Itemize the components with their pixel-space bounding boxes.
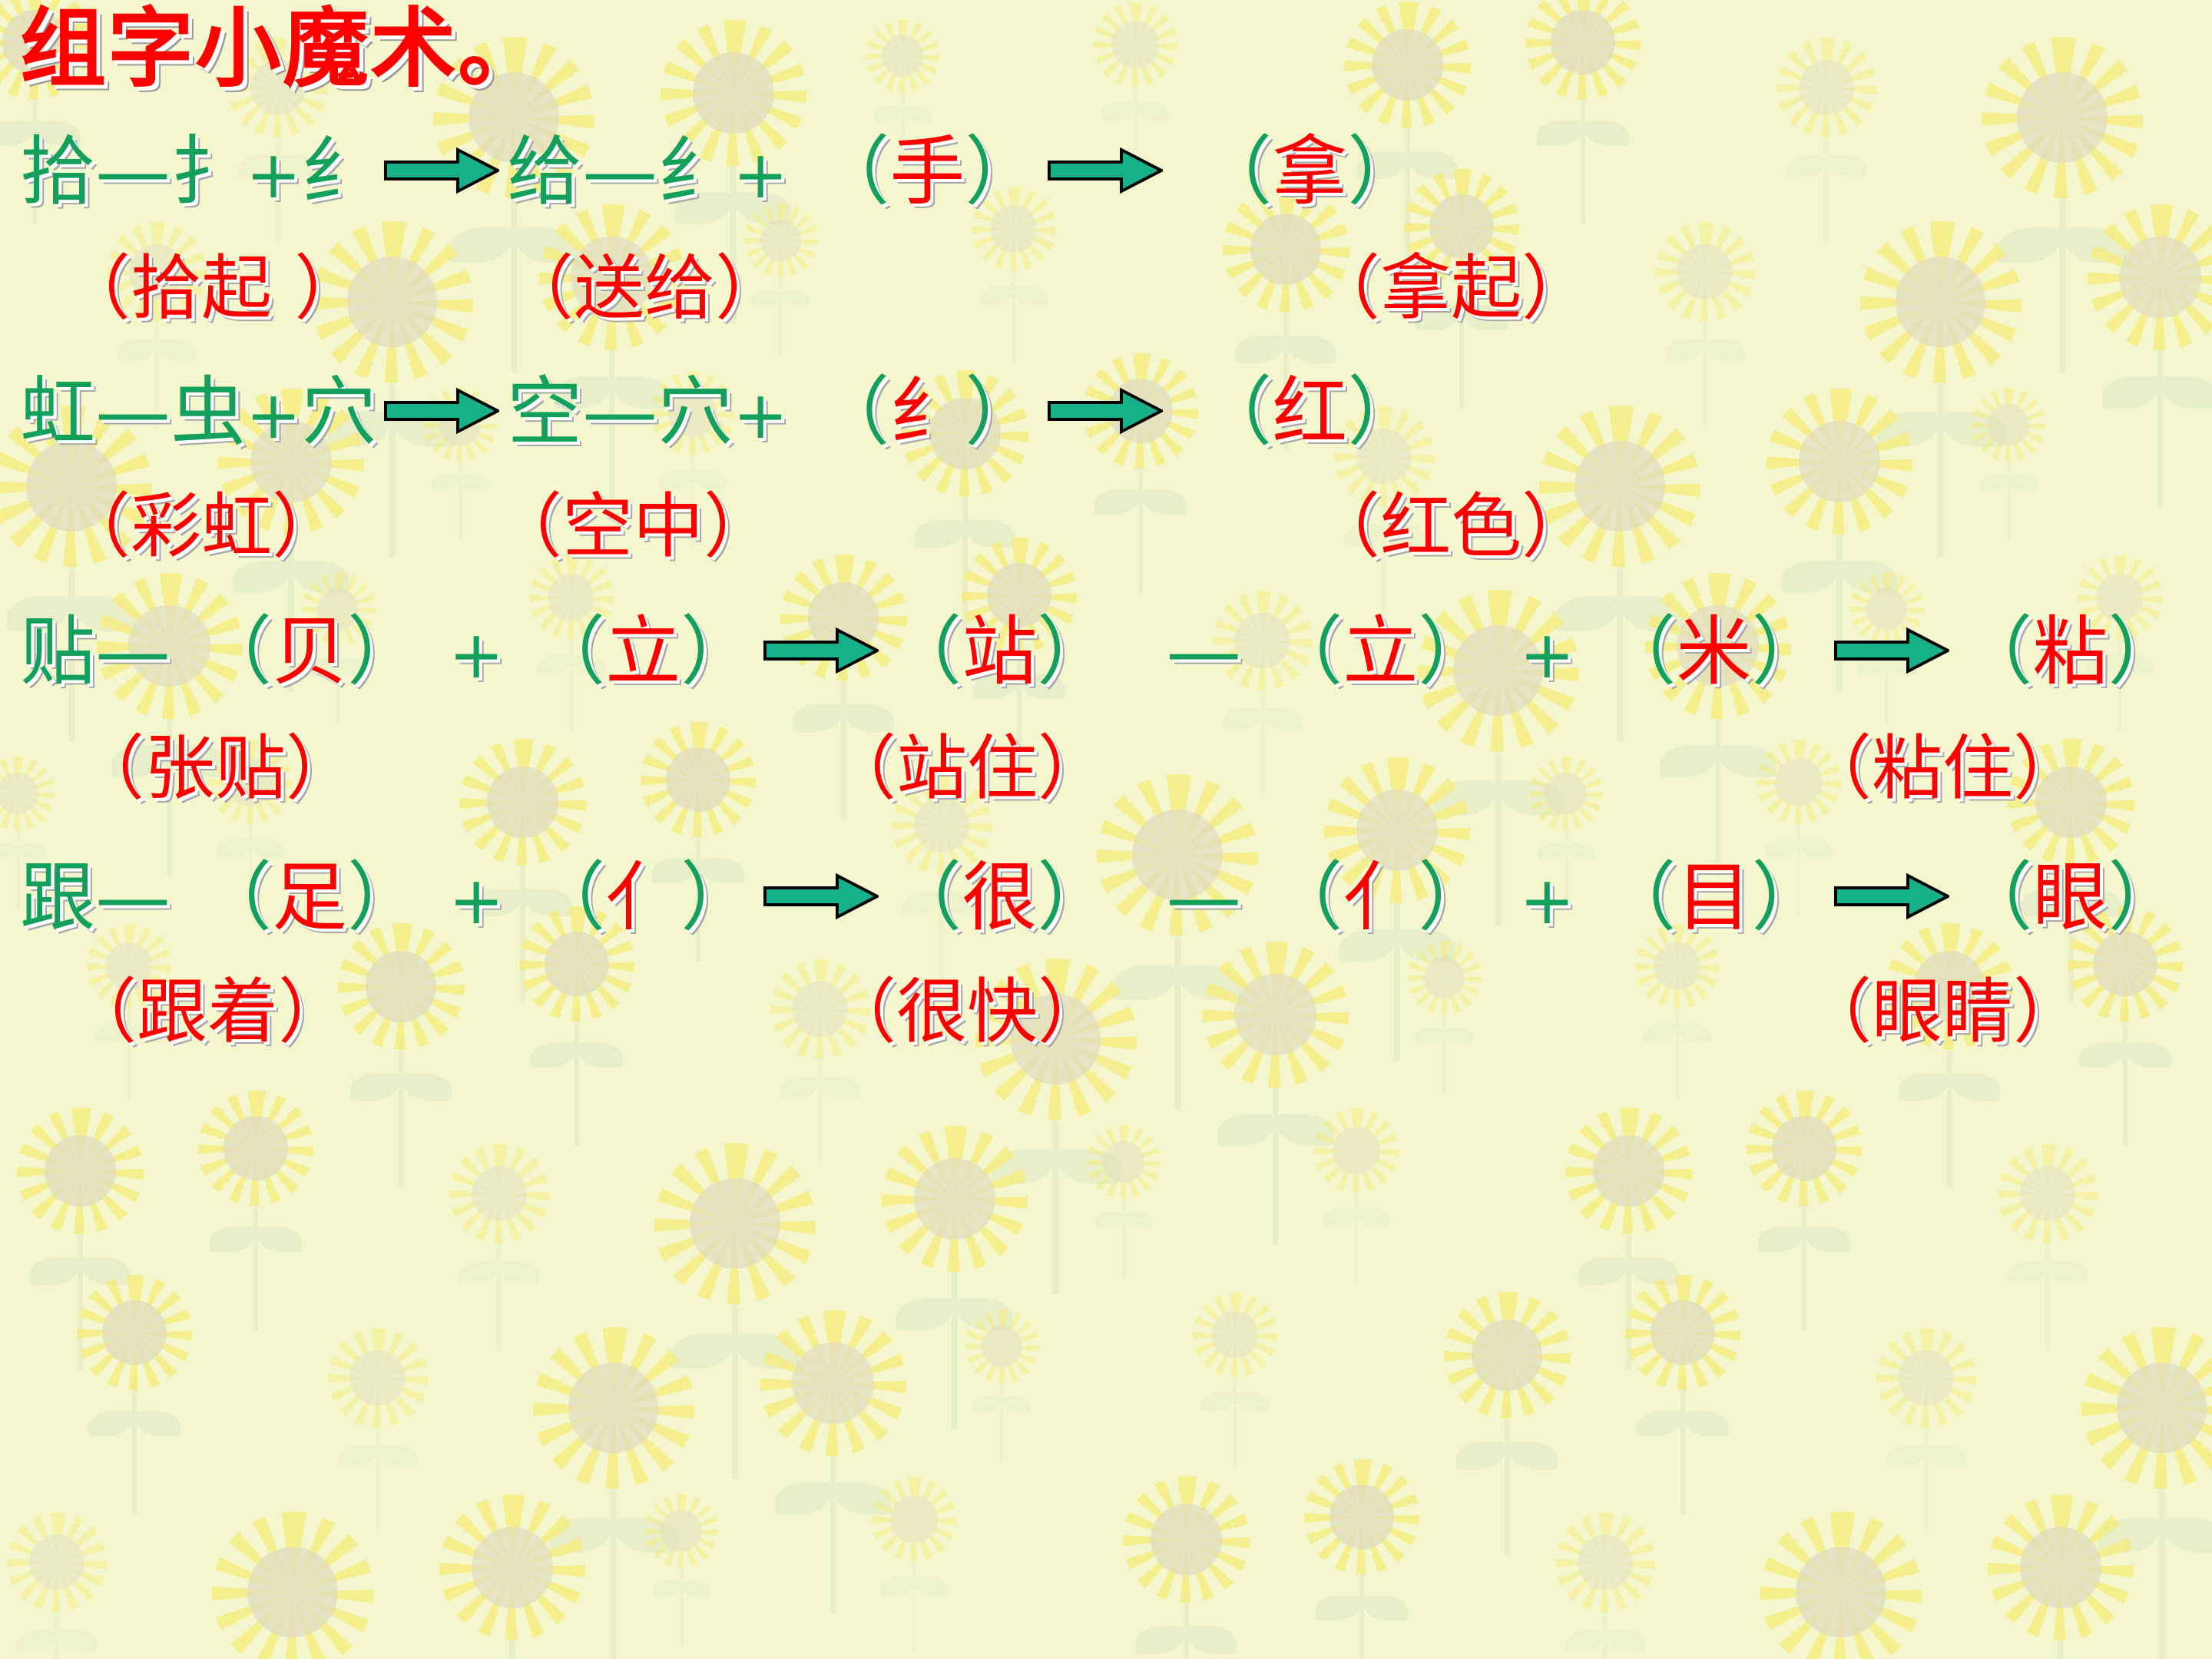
sunflower-icon	[1655, 222, 1755, 322]
word-row-1-right: （拿起）	[1310, 253, 1592, 324]
slide-canvas: 组字小魔术。 拾—扌+纟给—纟+（手）（拿） （拾起 ） （送给） （拿起） 虹…	[0, 0, 2212, 1659]
sunflower-icon	[1876, 1328, 1976, 1428]
sunflower-icon	[0, 757, 55, 830]
sunflower-icon	[2088, 204, 2212, 350]
word-row-3-mid: （站住）	[826, 733, 1108, 804]
plus-sign: +	[246, 377, 301, 454]
char-result-2: 粘	[2032, 608, 2108, 696]
sunflower-icon	[872, 1477, 956, 1561]
sunflower-icon	[1555, 1512, 1655, 1612]
sunflower-icon	[1408, 941, 1482, 1015]
plus-sign-2: +	[733, 137, 788, 214]
char-added: 立	[605, 608, 680, 696]
paren-open: （	[1601, 608, 1676, 696]
paren-open: （	[1197, 369, 1272, 456]
paren-close: ）	[680, 608, 756, 696]
page-title: 组字小魔术。	[20, 6, 545, 92]
minus-sign-2: —	[1166, 854, 1241, 942]
paren-close: ）	[1037, 608, 1112, 696]
sunflower-icon	[760, 1310, 906, 1456]
sunflower-icon	[1565, 1108, 1692, 1234]
char-result: 空	[507, 369, 582, 456]
paren-open: （	[530, 608, 605, 696]
paren-open: （	[886, 854, 962, 942]
char-removed-2: 穴	[657, 369, 733, 456]
paren-open: （	[814, 128, 889, 216]
sunflower-icon	[2081, 1327, 2212, 1488]
paren-open: （	[1957, 854, 2032, 942]
sunflower-icon	[1093, 2, 1177, 87]
char-removed: 贝	[272, 608, 347, 696]
sunflower-icon	[1304, 1459, 1419, 1575]
paren-open: （	[886, 608, 962, 696]
sunflower-icon	[328, 1328, 428, 1428]
equation-row-1: 拾—扌+纟给—纟+（手）（拿）	[20, 134, 1422, 210]
sunflower-icon	[882, 1126, 1028, 1272]
equation-row-3: 贴—（贝）+（立）（站）—（立）+（米）（粘）	[20, 614, 2183, 690]
minus-sign-2: —	[582, 369, 657, 456]
sunflower-icon	[965, 1310, 1039, 1383]
paren-close: ）	[2108, 854, 2183, 942]
word-row-1-mid: （送给）	[503, 253, 786, 324]
arrow-right-icon	[1048, 387, 1163, 435]
arrow-right-icon	[1048, 147, 1163, 194]
minus-sign-2: —	[582, 128, 657, 216]
paren-close: ）	[1751, 854, 1826, 942]
word-row-2-left: （彩虹）	[60, 492, 343, 562]
paren-close: ）	[1037, 854, 1112, 942]
char-base: 贴	[20, 608, 95, 696]
minus-sign: —	[95, 369, 171, 456]
minus-sign-2: —	[1166, 608, 1241, 696]
paren-close: ）	[965, 128, 1040, 216]
plus-sign-2: +	[1519, 617, 1575, 694]
sunflower-icon	[1529, 757, 1603, 830]
sunflower-icon	[1747, 1091, 1862, 1206]
paren-close: ）	[680, 854, 756, 942]
word-row-1-left: （拾起 ）	[60, 253, 365, 324]
word-row-2-right: （红色）	[1310, 492, 1592, 562]
plus-sign: +	[246, 137, 301, 214]
arrow-right-icon	[763, 873, 879, 920]
minus-sign: —	[95, 854, 171, 942]
paren-close: ）	[1751, 608, 1826, 696]
sunflower-icon	[212, 1512, 373, 1659]
word-row-4-right: （眼睛）	[1801, 977, 2084, 1048]
sunflower-icon	[1625, 1275, 1740, 1390]
plus-sign: +	[449, 617, 504, 694]
arrow-right-icon	[1834, 873, 1949, 920]
char-base: 跟	[20, 854, 95, 942]
paren-close: ）	[1418, 608, 1493, 696]
sunflower-icon	[644, 1494, 718, 1568]
sunflower-icon	[641, 722, 756, 837]
char-result: 很	[962, 854, 1037, 942]
equation-row-2: 虹—虫+穴空—穴+（纟）（红）	[20, 375, 1422, 450]
minus-sign: —	[95, 608, 171, 696]
sunflower-icon	[1988, 1495, 2134, 1641]
word-row-3-left: （张贴）	[74, 733, 356, 804]
word-row-3-right: （粘住）	[1801, 733, 2084, 804]
sunflower-icon	[449, 1144, 549, 1243]
sunflower-icon	[533, 1327, 694, 1488]
plus-sign-2: +	[1519, 863, 1575, 939]
sunflower-icon	[1777, 38, 1876, 137]
char-result-2: 红	[1272, 369, 1347, 456]
minus-sign: —	[95, 128, 171, 216]
char-removed-2: 亻	[1343, 854, 1418, 942]
paren-close: ）	[347, 854, 422, 942]
char-base: 虹	[20, 369, 95, 456]
sunflower-icon	[1972, 388, 2045, 462]
paren-close: ）	[2108, 608, 2183, 696]
word-row-2-mid: （空中）	[492, 492, 774, 562]
paren-close: ）	[347, 608, 422, 696]
sunflower-icon	[77, 1275, 192, 1390]
sunflower-icon	[866, 19, 939, 93]
sunflower-icon	[1760, 1512, 1922, 1659]
sunflower-icon	[1444, 1292, 1571, 1419]
paren-open: （	[1957, 608, 2032, 696]
char-added: 纟	[301, 128, 376, 216]
arrow-right-icon	[384, 147, 499, 194]
sunflower-icon	[1344, 2, 1471, 128]
char-added-2: 手	[889, 128, 965, 216]
sunflower-icon	[1123, 1476, 1250, 1603]
paren-open: （	[1197, 128, 1272, 216]
sunflower-icon	[439, 1495, 585, 1641]
sunflower-icon	[17, 1108, 144, 1234]
char-removed: 扌	[171, 128, 246, 216]
paren-open: （	[1267, 854, 1343, 942]
sunflower-icon	[1767, 389, 1912, 535]
sunflower-icon	[1314, 1108, 1399, 1193]
arrow-right-icon	[384, 387, 499, 435]
char-added: 亻	[605, 854, 680, 942]
sunflower-icon	[1193, 1293, 1277, 1377]
arrow-right-icon	[763, 627, 879, 674]
char-result-2: 拿	[1272, 128, 1347, 216]
sunflower-icon	[654, 1143, 816, 1304]
char-added-2: 米	[1676, 608, 1751, 696]
sunflower-icon	[1860, 221, 2022, 382]
paren-close: ）	[1418, 854, 1493, 942]
paren-open: （	[530, 854, 605, 942]
sunflower-icon	[198, 1091, 313, 1206]
equation-row-4: 跟—（足）+（亻）（很）—（亻）+（目）（眼）	[20, 860, 2183, 935]
word-row-4-left: （跟着）	[66, 977, 349, 1048]
paren-close: ）	[1347, 128, 1422, 216]
char-added-2: 纟	[889, 369, 965, 456]
sunflower-icon	[1203, 942, 1349, 1088]
paren-open: （	[1601, 854, 1676, 942]
paren-open: （	[814, 369, 889, 456]
paren-open: （	[1267, 608, 1343, 696]
word-row-4-mid: （很快）	[826, 977, 1108, 1048]
sunflower-icon	[7, 1512, 107, 1612]
paren-open: （	[197, 854, 272, 942]
plus-sign: +	[449, 863, 504, 939]
sunflower-icon	[1525, 0, 1641, 100]
char-removed: 足	[272, 854, 347, 942]
paren-close: ）	[965, 369, 1040, 456]
char-result: 给	[507, 128, 582, 216]
sunflower-icon	[459, 739, 586, 866]
plus-sign-2: +	[733, 377, 788, 454]
arrow-right-icon	[1834, 627, 1949, 674]
sunflower-icon	[1982, 37, 2143, 198]
sunflower-icon	[1998, 1144, 2098, 1243]
char-result-2: 眼	[2032, 854, 2108, 942]
char-base: 拾	[20, 128, 95, 216]
char-removed: 虫	[171, 369, 246, 456]
paren-open: （	[197, 608, 272, 696]
sunflower-icon	[1087, 1125, 1161, 1199]
char-removed-2: 立	[1343, 608, 1418, 696]
char-added-2: 目	[1676, 854, 1751, 942]
sunflower-icon	[338, 923, 465, 1050]
char-result: 站	[962, 608, 1037, 696]
char-removed-2: 纟	[657, 128, 733, 216]
paren-close: ）	[1347, 369, 1422, 456]
char-added: 穴	[301, 369, 376, 456]
